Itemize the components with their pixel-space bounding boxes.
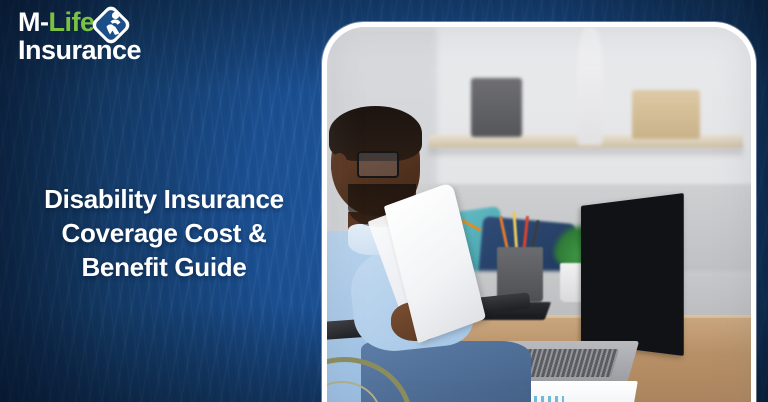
banner: M-Life Insurance Disability Insurance Co… bbox=[0, 0, 768, 402]
page-title-line-3: Benefit Guide bbox=[6, 250, 322, 284]
photo-inner-shadow bbox=[327, 27, 751, 402]
hero-photo bbox=[327, 27, 751, 402]
logo-text-m: M- bbox=[18, 7, 48, 37]
page-title-line-1: Disability Insurance bbox=[6, 182, 322, 216]
diamond-person-icon bbox=[88, 2, 134, 48]
hero-photo-frame bbox=[322, 22, 756, 402]
page-title-line-2: Coverage Cost & bbox=[6, 216, 322, 250]
page-title: Disability Insurance Coverage Cost & Ben… bbox=[6, 182, 322, 284]
